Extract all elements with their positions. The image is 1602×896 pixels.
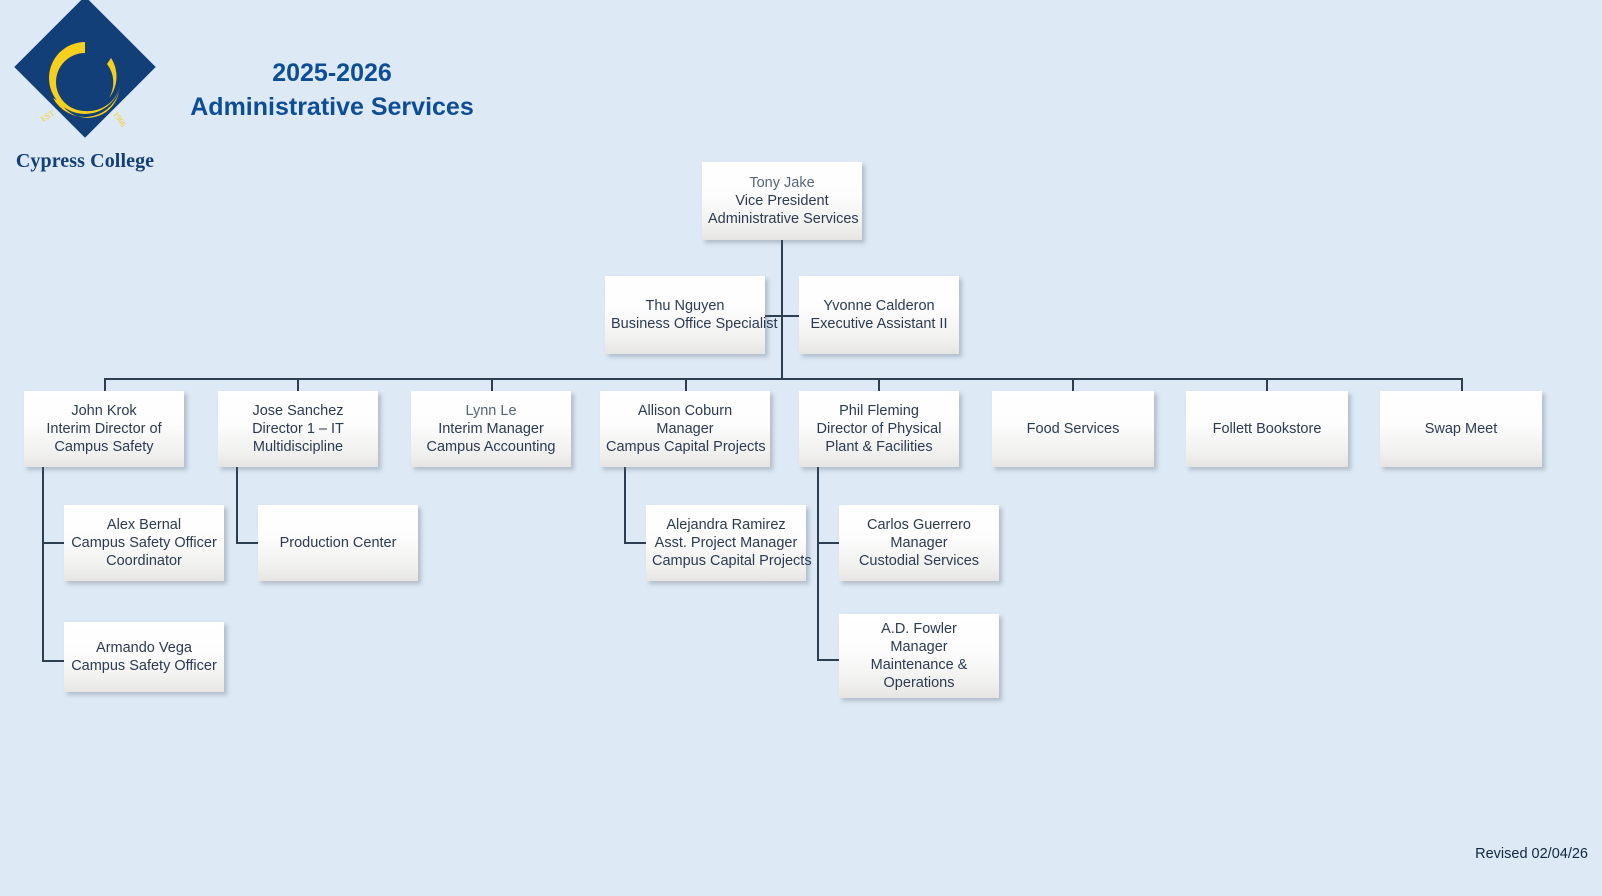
node-line: Plant & Facilities xyxy=(805,438,953,456)
org-chart-canvas: EST. 1966 Cypress College 2025-2026 Admi… xyxy=(0,0,1602,896)
node-vice-president[interactable]: Tony Jake Vice President Administrative … xyxy=(702,162,862,240)
node-line: Alejandra Ramirez xyxy=(652,516,800,534)
connector-safety-officer-stub xyxy=(42,660,64,662)
node-line: Follett Bookstore xyxy=(1192,420,1342,438)
node-physical-plant-director[interactable]: Phil Fleming Director of Physical Plant … xyxy=(799,391,959,467)
node-line: Yvonne Calderon xyxy=(805,297,953,315)
connector-main-bus xyxy=(104,378,1463,380)
node-line: Jose Sanchez xyxy=(224,402,372,420)
node-line: Asst. Project Manager xyxy=(652,534,800,552)
node-line: Alex Bernal xyxy=(70,516,218,534)
node-line: Maintenance & xyxy=(845,656,993,674)
revised-date: Revised 02/04/26 xyxy=(1475,846,1588,862)
node-capital-projects-manager[interactable]: Allison Coburn Manager Campus Capital Pr… xyxy=(600,391,770,467)
node-line: Interim Manager xyxy=(417,420,565,438)
title-year: 2025-2026 xyxy=(174,56,490,90)
node-line: Lynn Le xyxy=(417,402,565,420)
node-business-office-specialist[interactable]: Thu Nguyen Business Office Specialist xyxy=(605,276,765,354)
node-line: Allison Coburn xyxy=(606,402,764,420)
connector-drop-physical-plant xyxy=(878,378,880,392)
node-line: Campus Capital Projects xyxy=(652,552,800,570)
node-line: Campus Accounting xyxy=(417,438,565,456)
connector-drop-it xyxy=(297,378,299,392)
node-line: A.D. Fowler xyxy=(845,620,993,638)
node-line: Manager xyxy=(606,420,764,438)
connector-safety-coord-stub xyxy=(42,542,64,544)
node-line: Carlos Guerrero xyxy=(845,516,993,534)
connector-drop-capital xyxy=(685,378,687,392)
node-line: Custodial Services xyxy=(845,552,993,570)
node-line: Executive Assistant II xyxy=(805,315,953,333)
connector-safety-spine xyxy=(42,466,44,662)
cypress-swirl-icon: EST. 1966 xyxy=(15,14,155,154)
logo-est-text: EST. xyxy=(39,108,57,124)
connector-drop-bookstore xyxy=(1266,378,1268,392)
chart-title: 2025-2026 Administrative Services xyxy=(174,56,490,124)
node-custodial-services-manager[interactable]: Carlos Guerrero Manager Custodial Servic… xyxy=(839,505,999,581)
node-line: Production Center xyxy=(264,534,412,552)
node-line: Manager xyxy=(845,638,993,656)
node-line: Campus Safety Officer xyxy=(70,657,218,675)
node-line: Campus Safety Officer xyxy=(70,534,218,552)
node-line: Phil Fleming xyxy=(805,402,953,420)
node-executive-assistant[interactable]: Yvonne Calderon Executive Assistant II xyxy=(799,276,959,354)
logo-diamond-wrap: EST. 1966 xyxy=(15,14,155,154)
node-line: Campus Safety xyxy=(30,438,178,456)
connector-plant-spine xyxy=(817,466,819,661)
connector-production-stub xyxy=(236,542,258,544)
title-department: Administrative Services xyxy=(174,90,490,124)
node-line: Operations xyxy=(845,674,993,692)
node-line: Campus Capital Projects xyxy=(606,438,764,456)
node-follett-bookstore[interactable]: Follett Bookstore xyxy=(1186,391,1348,467)
connector-it-spine xyxy=(236,466,238,544)
connector-drop-accounting xyxy=(491,378,493,392)
node-line: Manager xyxy=(845,534,993,552)
connector-exec-asst-stub xyxy=(781,315,799,317)
node-swap-meet[interactable]: Swap Meet xyxy=(1380,391,1542,467)
node-line: Vice President xyxy=(708,192,856,210)
logo-year-text: 1966 xyxy=(111,110,127,128)
node-production-center[interactable]: Production Center xyxy=(258,505,418,581)
connector-asst-pm-stub xyxy=(624,542,646,544)
cypress-college-logo: EST. 1966 Cypress College xyxy=(10,14,160,173)
node-food-services[interactable]: Food Services xyxy=(992,391,1154,467)
node-it-director[interactable]: Jose Sanchez Director 1 – IT Multidiscip… xyxy=(218,391,378,467)
node-campus-safety-coordinator[interactable]: Alex Bernal Campus Safety Officer Coordi… xyxy=(64,505,224,581)
connector-drop-food-services xyxy=(1072,378,1074,392)
connector-drop-campus-safety xyxy=(104,378,106,392)
node-line: Director of Physical xyxy=(805,420,953,438)
node-campus-safety-officer[interactable]: Armando Vega Campus Safety Officer xyxy=(64,622,224,692)
node-line: Director 1 – IT xyxy=(224,420,372,438)
node-line: Food Services xyxy=(998,420,1148,438)
node-line: Tony Jake xyxy=(708,174,856,192)
node-line: Multidiscipline xyxy=(224,438,372,456)
node-line: Armando Vega xyxy=(70,639,218,657)
node-line: Business Office Specialist xyxy=(611,315,759,333)
connector-vp-trunk xyxy=(781,240,783,379)
node-maintenance-operations-manager[interactable]: A.D. Fowler Manager Maintenance & Operat… xyxy=(839,614,999,698)
connector-custodial-stub xyxy=(817,542,839,544)
node-asst-project-manager[interactable]: Alejandra Ramirez Asst. Project Manager … xyxy=(646,505,806,581)
connector-maintenance-stub xyxy=(817,659,839,661)
node-line: Interim Director of xyxy=(30,420,178,438)
node-line: Coordinator xyxy=(70,552,218,570)
node-campus-accounting-manager[interactable]: Lynn Le Interim Manager Campus Accountin… xyxy=(411,391,571,467)
node-line: Administrative Services xyxy=(708,210,856,228)
node-campus-safety-director[interactable]: John Krok Interim Director of Campus Saf… xyxy=(24,391,184,467)
node-line: Thu Nguyen xyxy=(611,297,759,315)
connector-capital-spine xyxy=(624,466,626,544)
connector-drop-swap-meet xyxy=(1461,378,1463,392)
node-line: John Krok xyxy=(30,402,178,420)
node-line: Swap Meet xyxy=(1386,420,1536,438)
